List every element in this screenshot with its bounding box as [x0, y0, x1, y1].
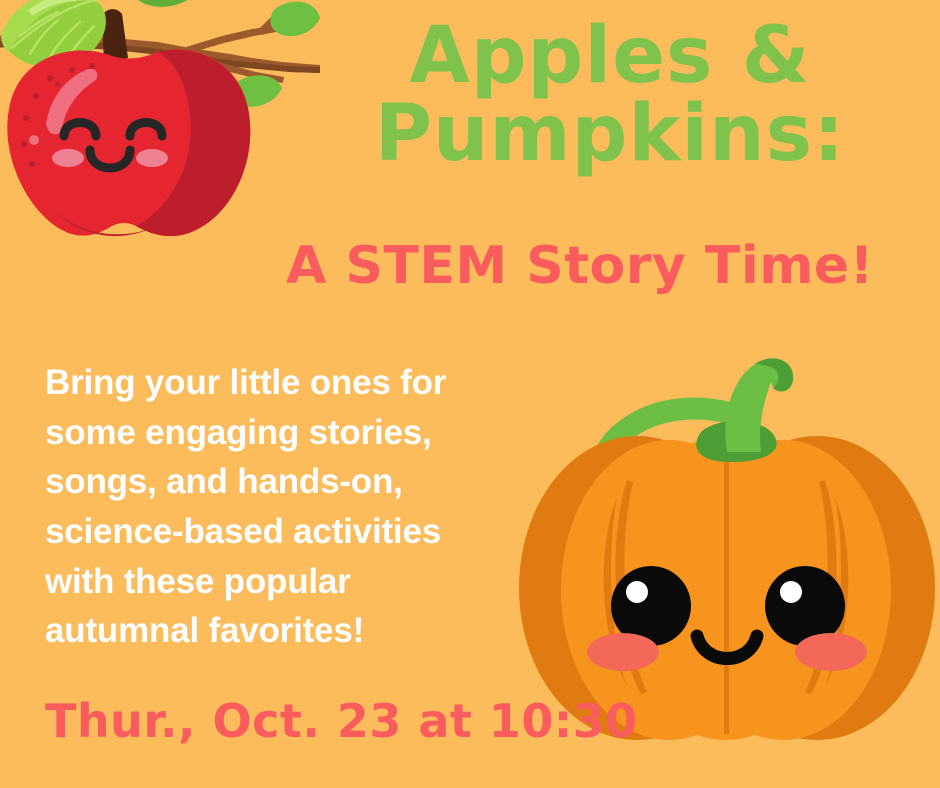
leaf-right-lower — [231, 75, 282, 107]
leaf-top-a — [133, 0, 198, 7]
description-line: with these popular — [45, 557, 515, 607]
pumpkin-eye-right-glint — [780, 581, 802, 603]
flyer-title: Apples & Pumpkins: — [300, 18, 920, 173]
description-line: autumnal favorites! — [45, 606, 515, 656]
apple-cheek-left — [52, 149, 84, 167]
apple-illustration — [0, 0, 320, 252]
pumpkin-vine-curl — [601, 409, 743, 502]
description-line: songs, and hands-on, — [45, 457, 515, 507]
pumpkin-body-center — [614, 436, 838, 740]
apple-eye-left — [64, 123, 96, 137]
pumpkin-mouth — [697, 636, 757, 659]
apple-leaf-veins — [12, 0, 96, 60]
pumpkin-rib-left — [604, 498, 627, 686]
apple-cheek-right — [136, 149, 168, 167]
apple-eye-right — [130, 123, 162, 137]
pumpkin-eye-right — [765, 566, 845, 646]
event-datetime: Thur., Oct. 23 at 10:30 — [45, 698, 638, 744]
pumpkin-eye-left — [611, 566, 691, 646]
pumpkin-rib-right — [825, 498, 848, 686]
description-line: some engaging stories, — [45, 408, 515, 458]
apple-freckles — [21, 63, 95, 167]
apple-face — [52, 123, 168, 169]
apple-highlight — [46, 69, 97, 135]
tree-branch — [0, 34, 320, 73]
apple-bottom-shade — [48, 206, 152, 236]
apple-leaf-shade — [1, 0, 100, 52]
branch-twig-upper — [186, 25, 282, 53]
flyer-description: Bring your little ones for some engaging… — [45, 358, 515, 656]
pumpkin-lobe-far-right — [699, 436, 935, 740]
apple-highlight-dot-a — [29, 135, 39, 145]
title-line-2: Pumpkins: — [300, 96, 920, 172]
apple-shade — [136, 50, 250, 236]
description-line: Bring your little ones for — [45, 358, 515, 408]
pumpkin-lobe-right — [675, 440, 891, 740]
pumpkin-stem — [725, 358, 793, 452]
flyer-subtitle: A STEM Story Time! — [230, 240, 930, 292]
event-flyer: Apples & Pumpkins: A STEM Story Time! Br… — [0, 0, 940, 788]
apple-leaf-highlight — [28, 0, 78, 16]
pumpkin-stem-back — [696, 421, 776, 462]
branch-twig-lower — [188, 54, 284, 83]
branch-shadow — [0, 40, 320, 73]
apple-leaf — [1, 0, 106, 68]
pumpkin-cheek-left — [587, 633, 659, 671]
apple-body — [7, 49, 250, 236]
branch-twig-leafstalk — [258, 12, 282, 35]
pumpkin-cheek-right — [795, 633, 867, 671]
branch-twig-small — [174, 64, 248, 102]
apple-stem — [102, 9, 128, 64]
pumpkin-eye-left-glint — [626, 581, 648, 603]
pumpkin-rib-inner-left — [615, 480, 647, 694]
pumpkin-stem-top-shade — [755, 358, 793, 391]
apple-mouth — [90, 150, 130, 168]
pumpkin-rib-inner-right — [805, 480, 837, 694]
pumpkin-rib-center — [724, 444, 729, 734]
description-line: science-based activities — [45, 507, 515, 557]
title-line-1: Apples & — [300, 18, 920, 94]
pumpkin-face — [587, 566, 867, 671]
